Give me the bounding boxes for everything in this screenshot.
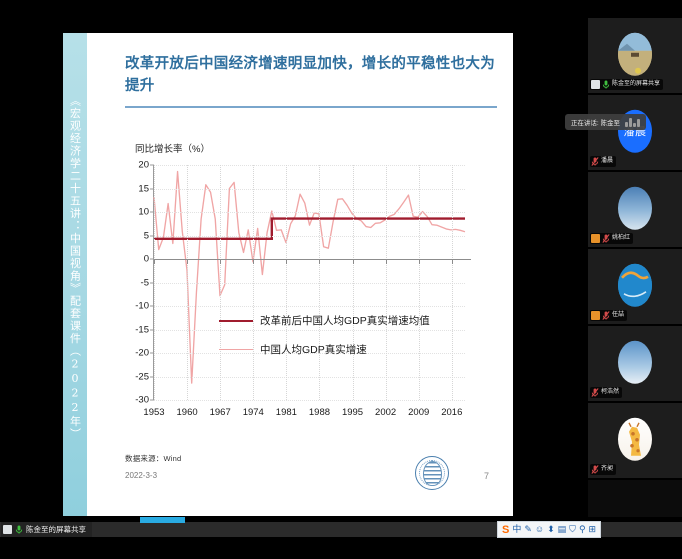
participant-name-bar: 陈金至的屏幕共享: [590, 79, 663, 90]
slide-title: 改革开放后中国经济增速明显加快，增长的平稳性也大为提升: [125, 53, 495, 98]
toolbox-icon[interactable]: ⛉: [569, 525, 576, 534]
screen-share-icon: [3, 525, 12, 534]
chart-x-tickmark: [319, 259, 320, 264]
avatar: [618, 186, 652, 229]
chart-x-tick: 2016: [441, 407, 462, 418]
participant-tile[interactable]: 陈金至的屏幕共享: [588, 18, 682, 95]
participant-name: 姚柏红: [612, 235, 630, 242]
slide-sidebar-band: 《宏观经济学二十五讲：中国视角》配套课件（2022年）: [63, 33, 87, 516]
chart-x-tick: 1981: [276, 407, 297, 418]
avatar: [618, 417, 652, 460]
chart-y-tick: -20: [135, 348, 149, 359]
emoji-icon[interactable]: ☺: [535, 525, 544, 534]
ime-toolbar[interactable]: S 中 ✎ ☺ ⬍ ▤ ⛉ ⚲ ⊞: [497, 521, 601, 538]
umbrella-icon[interactable]: ⚲: [579, 525, 586, 534]
speaking-indicator: 正在讲话: 陈金至: [565, 114, 646, 130]
participant-name: 任喆: [612, 312, 624, 319]
chart-x-tick: 2009: [408, 407, 429, 418]
chart-legend-swatch: [219, 349, 253, 350]
chart-x-tickmark: [253, 259, 254, 264]
chart-zero-axis: [154, 259, 471, 260]
chart-y-tick: 5: [144, 230, 149, 241]
avatar: [618, 32, 652, 75]
taskbar-active-tab[interactable]: [140, 517, 185, 523]
chart-y-tick: 15: [138, 183, 149, 194]
taskbar-share-item[interactable]: 陈金至的屏幕共享: [1, 522, 92, 537]
mic-muted-icon: [602, 311, 610, 320]
participant-name-bar: 柯浩然: [590, 387, 622, 398]
chart-y-tick: 10: [138, 207, 149, 218]
taskbar-share-label: 陈金至的屏幕共享: [26, 524, 86, 535]
chart-y-axis-label: 同比增长率（%）: [135, 141, 210, 155]
presentation-slide: 《宏观经济学二十五讲：中国视角》配套课件（2022年） 改革开放后中国经济增速明…: [63, 33, 513, 516]
participant-tile[interactable]: 潘晨潘晨: [588, 95, 682, 172]
chart-x-tick: 1988: [309, 407, 330, 418]
chart-x-tick: 2002: [375, 407, 396, 418]
mic-on-icon: [602, 80, 610, 89]
chart-legend-item: 改革前后中国人均GDP真实增速均值: [219, 313, 469, 328]
chart-y-tick: -30: [135, 395, 149, 406]
participant-name: 陈金至的屏幕共享: [612, 81, 660, 88]
chart-gridline-h: [154, 400, 465, 401]
chart-legend: 改革前后中国人均GDP真实增速均值中国人均GDP真实增速: [219, 313, 469, 371]
chart-y-tick: -5: [141, 277, 149, 288]
avatar: [618, 340, 652, 383]
participant-strip[interactable]: 陈金至的屏幕共享潘晨潘晨姚柏红任喆柯浩然齐昶: [588, 18, 682, 518]
speaking-indicator-label: 正在讲话: 陈金至: [571, 117, 620, 127]
audio-wave-icon: [625, 118, 640, 127]
mic-muted-icon: [591, 388, 599, 397]
chart-y-tick: -25: [135, 371, 149, 382]
keyboard-icon[interactable]: ▤: [558, 525, 567, 534]
sogou-logo-icon[interactable]: S: [502, 524, 509, 536]
chart-x-tickmark: [353, 259, 354, 264]
mic-muted-icon: [591, 465, 599, 474]
chart-x-tick: 1960: [177, 407, 198, 418]
chart-x-tickmark: [386, 259, 387, 264]
mic-icon[interactable]: ⬍: [547, 525, 555, 534]
chart-y-tick: -15: [135, 324, 149, 335]
title-underline-rule: [125, 106, 497, 108]
chart-legend-label: 中国人均GDP真实增速: [260, 342, 367, 357]
university-seal-icon: [415, 456, 449, 490]
slide-sidebar-vertical-text: 《宏观经济学二十五讲：中国视角》配套课件（2022年）: [70, 95, 81, 441]
chart-legend-swatch: [219, 320, 253, 322]
taskbar: 陈金至的屏幕共享 S 中 ✎ ☺ ⬍ ▤ ⛉ ⚲ ⊞: [0, 517, 682, 559]
mic-muted-icon: [591, 157, 599, 166]
avatar: [618, 263, 652, 306]
mic-on-icon: [15, 525, 23, 534]
chart-x-tickmark: [154, 259, 155, 264]
screen: 《宏观经济学二十五讲：中国视角》配套课件（2022年） 改革开放后中国经济增速明…: [0, 0, 682, 559]
chart-x-tickmark: [452, 259, 453, 264]
source-note: 数据来源：Wind: [125, 453, 181, 464]
participant-tile[interactable]: 姚柏红: [588, 172, 682, 249]
participant-tile[interactable]: 任喆: [588, 249, 682, 326]
participant-name: 柯浩然: [601, 389, 619, 396]
chart-x-tick: 1967: [210, 407, 231, 418]
ime-mode-toggle[interactable]: 中: [512, 525, 521, 534]
chart-gridline-v: [187, 165, 188, 400]
chart-y-tick: 20: [138, 160, 149, 171]
chart-x-tickmark: [286, 259, 287, 264]
chart-x-tick: 1953: [143, 407, 164, 418]
screen-share-icon: [591, 80, 600, 89]
participant-name: 潘晨: [601, 158, 613, 165]
chart-x-tickmark: [419, 259, 420, 264]
participant-tile[interactable]: 齐昶: [588, 403, 682, 480]
chart-x-tick: 1995: [342, 407, 363, 418]
participant-name-bar: 潘晨: [590, 156, 616, 167]
slide-date: 2022-3-3: [125, 471, 157, 480]
host-icon: [591, 234, 600, 243]
chart-x-tickmark: [220, 259, 221, 264]
pen-icon[interactable]: ✎: [524, 525, 532, 534]
chart-gridline-v: [154, 165, 155, 400]
chart-legend-item: 中国人均GDP真实增速: [219, 342, 469, 357]
shared-screen-area: 《宏观经济学二十五讲：中国视角》配套课件（2022年） 改革开放后中国经济增速明…: [0, 0, 585, 517]
chart-x-tick: 1974: [243, 407, 264, 418]
chart-y-tick: 0: [144, 254, 149, 265]
mic-muted-icon: [602, 234, 610, 243]
chart-y-tick: -10: [135, 301, 149, 312]
slide-page-number: 7: [484, 471, 489, 481]
participant-name-bar: 齐昶: [590, 464, 616, 475]
host-icon: [591, 311, 600, 320]
participant-tile[interactable]: 柯浩然: [588, 326, 682, 403]
chart-legend-label: 改革前后中国人均GDP真实增速均值: [260, 313, 430, 328]
slide-body: 改革开放后中国经济增速明显加快，增长的平稳性也大为提升 同比增长率（%） 201…: [87, 33, 513, 516]
chart: 同比增长率（%） 20151050-5-10-15-20-25-30195319…: [111, 141, 511, 441]
participant-name-bar: 姚柏红: [590, 233, 633, 244]
apps-icon[interactable]: ⊞: [589, 525, 597, 534]
participant-name: 齐昶: [601, 466, 613, 473]
participant-name-bar: 任喆: [590, 310, 627, 321]
chart-x-tickmark: [187, 259, 188, 264]
